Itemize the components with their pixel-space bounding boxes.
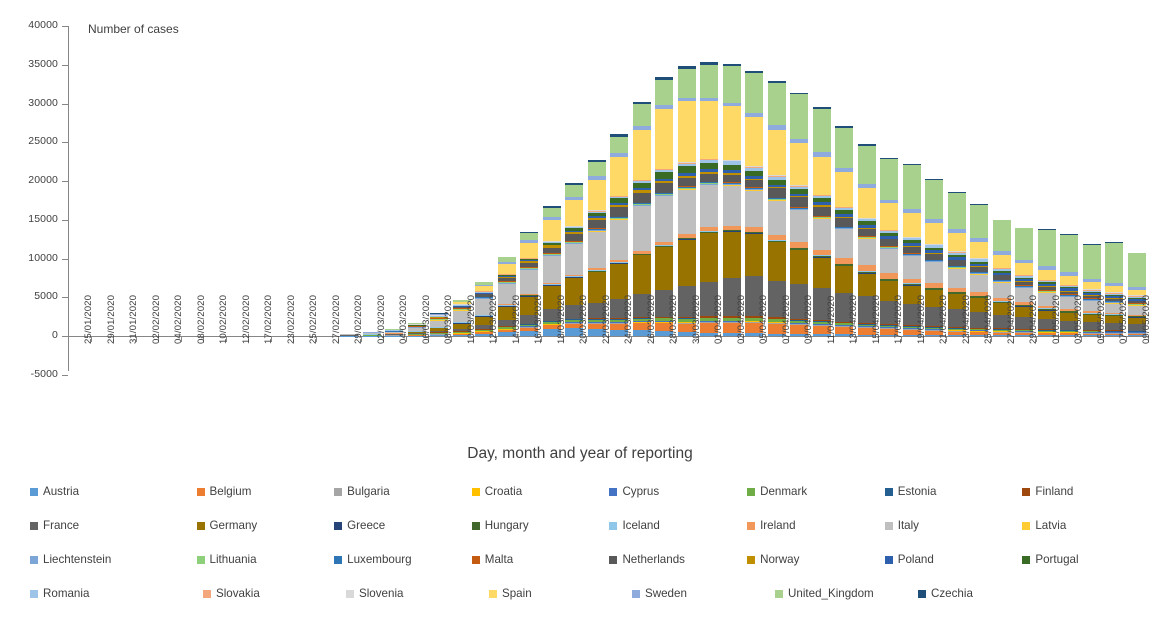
legend-swatch-icon <box>197 522 205 530</box>
bar-segment <box>948 269 966 288</box>
x-tick-label: 06/03/2020 <box>421 295 432 344</box>
x-tick-label: 09/04/2020 <box>803 295 814 344</box>
bar-segment <box>723 186 741 226</box>
legend-label: Malta <box>485 554 513 566</box>
legend-row: LiechtensteinLithuaniaLuxembourgMaltaNet… <box>0 554 1160 588</box>
legend-item-united_kingdom[interactable]: United_Kingdom <box>775 588 918 600</box>
x-tick-label: 03/04/2020 <box>736 295 747 344</box>
legend-swatch-icon <box>472 522 480 530</box>
bar-segment <box>655 109 673 169</box>
x-tick-label: 12/03/2020 <box>488 295 499 344</box>
x-tick-label: 08/03/2020 <box>443 295 454 344</box>
x-tick-label: 29/02/2020 <box>353 295 364 344</box>
x-tick-label: 22/03/2020 <box>601 295 612 344</box>
y-tick-label: 20000 <box>0 175 58 186</box>
y-tick-label: 30000 <box>0 98 58 109</box>
bar-segment <box>858 188 876 218</box>
x-tick-label: 17/04/2020 <box>893 295 904 344</box>
x-tick-label: 25/02/2020 <box>308 295 319 344</box>
x-tick-label: 08/02/2020 <box>196 295 207 344</box>
bar-segment <box>993 220 1011 251</box>
legend-swatch-icon <box>747 488 755 496</box>
legend-swatch-icon <box>775 590 783 598</box>
bar-segment <box>498 264 516 273</box>
x-tick-label: 03/05/2020 <box>1073 295 1084 344</box>
legend-label: Lithuania <box>210 554 257 566</box>
bar-segment <box>1038 230 1056 266</box>
bar-segment <box>948 193 966 229</box>
bar-segment <box>723 66 741 103</box>
legend-swatch-icon <box>334 556 342 564</box>
x-tick-label: 20/03/2020 <box>578 295 589 344</box>
legend-row: FranceGermanyGreeceHungaryIcelandIreland… <box>0 520 1160 554</box>
x-tick-label: 05/05/2020 <box>1096 295 1107 344</box>
bar-segment <box>565 234 583 241</box>
bar-segment <box>925 223 943 244</box>
y-tick-label: 40000 <box>0 20 58 31</box>
bar-segment <box>723 175 741 182</box>
legend-label: Ireland <box>760 520 795 532</box>
bar-segment <box>565 244 583 274</box>
x-tick-label: 10/03/2020 <box>466 295 477 344</box>
bar-segment <box>588 162 606 176</box>
bar-segment <box>655 196 673 242</box>
bar-segment <box>700 101 718 159</box>
x-tick-label: 27/04/2020 <box>1006 295 1017 344</box>
legend-swatch-icon <box>197 488 205 496</box>
bar-segment <box>655 247 673 289</box>
x-tick-label: 26/03/2020 <box>646 295 657 344</box>
bar-segment <box>903 213 921 237</box>
x-tick-label: 24/03/2020 <box>623 295 634 344</box>
bar-segment <box>678 190 696 235</box>
y-tick-label: -5000 <box>0 369 58 380</box>
bar-segment <box>903 165 921 209</box>
legend-label: Latvia <box>1035 520 1066 532</box>
bar-segment <box>970 242 988 258</box>
y-tick-label: 5000 <box>0 291 58 302</box>
bar-segment <box>790 210 808 242</box>
legend-label: Spain <box>502 588 532 600</box>
bar-segment <box>700 185 718 227</box>
legend-label: United_Kingdom <box>788 588 874 600</box>
legend-item-spain[interactable]: Spain <box>489 588 632 600</box>
bar-segment <box>610 264 628 299</box>
bar-segment <box>925 180 943 219</box>
bar-segment <box>678 178 696 186</box>
legend-swatch-icon <box>472 556 480 564</box>
bar-segment <box>700 174 718 182</box>
bar-segment <box>588 180 606 211</box>
legend-swatch-icon <box>1022 522 1030 530</box>
legend-swatch-icon <box>885 556 893 564</box>
y-tick-label: 25000 <box>0 136 58 147</box>
legend-item-croatia[interactable]: Croatia <box>472 486 610 498</box>
bar-segment <box>588 220 606 228</box>
x-tick-label: 21/04/2020 <box>938 295 949 344</box>
bar-segment <box>655 183 673 192</box>
x-tick-label: 25/04/2020 <box>983 295 994 344</box>
x-tick-label: 23/04/2020 <box>961 295 972 344</box>
x-tick-label: 05/04/2020 <box>758 295 769 344</box>
legend-label: Poland <box>898 554 934 566</box>
legend-label: Greece <box>347 520 385 532</box>
legend-label: Iceland <box>622 520 659 532</box>
x-tick-label: 12/02/2020 <box>241 295 252 344</box>
bar-segment <box>655 80 673 105</box>
x-tick-label: 28/03/2020 <box>668 295 679 344</box>
legend-item-slovenia[interactable]: Slovenia <box>346 588 489 600</box>
legend-item-poland[interactable]: Poland <box>885 554 1023 566</box>
bar-segment <box>858 229 876 237</box>
legend-label: Slovakia <box>216 588 260 600</box>
bar-segment <box>700 233 718 281</box>
legend-item-italy[interactable]: Italy <box>885 520 1023 532</box>
bar-segment <box>925 262 943 283</box>
legend-item-hungary[interactable]: Hungary <box>472 520 610 532</box>
x-tick-label: 09/05/2020 <box>1141 295 1152 344</box>
bar-segment <box>678 101 696 163</box>
legend-label: Finland <box>1035 486 1073 498</box>
bar-segment <box>633 104 651 126</box>
bar-segment <box>1015 228 1033 260</box>
x-tick-label: 02/03/2020 <box>376 295 387 344</box>
legend-swatch-icon <box>334 488 342 496</box>
bar-segment <box>1015 263 1033 275</box>
bar-segment <box>633 130 651 180</box>
legend-label: Belgium <box>210 486 252 498</box>
legend-swatch-icon <box>609 488 617 496</box>
bar-segment <box>520 243 538 258</box>
legend-label: Luxembourg <box>347 554 411 566</box>
bar-segment <box>1060 276 1078 285</box>
bar-segment <box>520 233 538 240</box>
legend-item-belgium[interactable]: Belgium <box>197 486 335 498</box>
legend-item-czechia[interactable]: Czechia <box>918 588 1061 600</box>
x-tick-label: 29/01/2020 <box>106 295 117 344</box>
legend-swatch-icon <box>30 488 38 496</box>
legend-label: Austria <box>43 486 79 498</box>
bar-segment <box>745 234 763 276</box>
bar-segment <box>1083 282 1101 289</box>
bar-segment <box>835 172 853 206</box>
legend-label: Czechia <box>931 588 973 600</box>
bar-segment <box>768 188 786 197</box>
legend-swatch-icon <box>489 590 497 598</box>
legend-label: Estonia <box>898 486 937 498</box>
x-axis-title: Day, month and year of reporting <box>0 445 1160 463</box>
legend-label: Liechtenstein <box>43 554 111 566</box>
x-tick-label: 30/03/2020 <box>691 295 702 344</box>
x-tick-label: 16/03/2020 <box>533 295 544 344</box>
bar-segment <box>1128 253 1146 287</box>
x-tick-label: 07/04/2020 <box>781 295 792 344</box>
legend-swatch-icon <box>609 522 617 530</box>
bar-segment <box>1105 243 1123 283</box>
legend-label: France <box>43 520 79 532</box>
bar-segment <box>610 207 628 216</box>
x-tick-label: 18/03/2020 <box>556 295 567 344</box>
legend-swatch-icon <box>30 590 38 598</box>
x-tick-label: 15/04/2020 <box>871 295 882 344</box>
x-tick-label: 19/04/2020 <box>916 295 927 344</box>
legend-label: Sweden <box>645 588 687 600</box>
legend-swatch-icon <box>334 522 342 530</box>
chart-legend: AustriaBelgiumBulgariaCroatiaCyprusDenma… <box>0 486 1160 626</box>
legend-swatch-icon <box>747 556 755 564</box>
bar-segment <box>880 249 898 273</box>
legend-row: RomaniaSlovakiaSloveniaSpainSwedenUnited… <box>0 588 1160 622</box>
bar-segment <box>610 220 628 260</box>
bar-segment <box>835 128 853 168</box>
x-tick-label: 01/04/2020 <box>713 295 724 344</box>
bar-segment <box>1083 245 1101 279</box>
legend-item-malta[interactable]: Malta <box>472 554 610 566</box>
legend-item-slovakia[interactable]: Slovakia <box>203 588 346 600</box>
bar-segment <box>520 270 538 294</box>
x-tick-label: 17/02/2020 <box>263 295 274 344</box>
x-tick-label: 01/05/2020 <box>1051 295 1062 344</box>
bar-segment <box>610 157 628 195</box>
bar-segment <box>880 159 898 200</box>
legend-swatch-icon <box>885 488 893 496</box>
bar-segment <box>813 258 831 288</box>
bar-segment <box>790 94 808 138</box>
legend-item-estonia[interactable]: Estonia <box>885 486 1023 498</box>
legend-label: Netherlands <box>622 554 685 566</box>
legend-item-lithuania[interactable]: Lithuania <box>197 554 335 566</box>
x-tick-label: 13/04/2020 <box>848 295 859 344</box>
legend-swatch-icon <box>609 556 617 564</box>
bar-segment <box>745 191 763 228</box>
legend-row: AustriaBelgiumBulgariaCroatiaCyprusDenma… <box>0 486 1160 520</box>
bar-segment <box>880 239 898 246</box>
legend-label: Romania <box>43 588 89 600</box>
bar-segment <box>768 201 786 235</box>
x-tick-label: 31/01/2020 <box>128 295 139 344</box>
legend-swatch-icon <box>30 556 38 564</box>
legend-label: Germany <box>210 520 258 532</box>
x-tick-label: 04/02/2020 <box>173 295 184 344</box>
legend-swatch-icon <box>472 488 480 496</box>
bar-segment <box>970 205 988 238</box>
x-tick-label: 07/05/2020 <box>1118 295 1129 344</box>
legend-item-germany[interactable]: Germany <box>197 520 335 532</box>
x-tick-label: 04/03/2020 <box>398 295 409 344</box>
bar-segment <box>1038 270 1056 280</box>
bar-segment <box>768 242 786 280</box>
bar-segment <box>588 232 606 269</box>
legend-label: Bulgaria <box>347 486 390 498</box>
legend-swatch-icon <box>918 590 926 598</box>
legend-item-france[interactable]: France <box>0 520 197 532</box>
bar-segment <box>813 207 831 217</box>
bar-segment <box>745 73 763 113</box>
y-tick-label: 15000 <box>0 214 58 225</box>
legend-swatch-icon <box>346 590 354 598</box>
legend-label: Slovenia <box>359 588 403 600</box>
x-tick-label: 23/02/2020 <box>286 295 297 344</box>
bar-segment <box>790 143 808 185</box>
bar-segment <box>880 203 898 229</box>
x-tick-label: 29/04/2020 <box>1028 295 1039 344</box>
bar-segment <box>723 106 741 160</box>
bar-segment <box>633 255 651 293</box>
legend-swatch-icon <box>632 590 640 598</box>
x-tick-label: 27/02/2020 <box>331 295 342 344</box>
bar-segment <box>993 255 1011 268</box>
bar-segment <box>700 65 718 98</box>
legend-swatch-icon <box>885 522 893 530</box>
bar-segment <box>678 240 696 286</box>
legend-item-denmark[interactable]: Denmark <box>747 486 885 498</box>
y-tick-label: 35000 <box>0 59 58 70</box>
x-tick-label: 02/02/2020 <box>151 295 162 344</box>
plot-bars <box>68 26 1148 336</box>
legend-label: Italy <box>898 520 919 532</box>
x-tick-label: 11/04/2020 <box>826 296 837 344</box>
bar-segment <box>813 219 831 249</box>
bar-segment <box>813 109 831 152</box>
legend-item-cyprus[interactable]: Cyprus <box>609 486 747 498</box>
bar-segment <box>543 220 561 241</box>
legend-item-austria[interactable]: Austria <box>0 486 197 498</box>
legend-label: Cyprus <box>622 486 659 498</box>
bar-segment <box>948 233 966 252</box>
bar-segment <box>970 275 988 293</box>
legend-item-sweden[interactable]: Sweden <box>632 588 775 600</box>
legend-item-luxembourg[interactable]: Luxembourg <box>334 554 472 566</box>
bar-segment <box>543 256 561 282</box>
bar-segment <box>858 239 876 265</box>
legend-swatch-icon <box>1022 556 1030 564</box>
legend-swatch-icon <box>1022 488 1030 496</box>
legend-swatch-icon <box>203 590 211 598</box>
bar-segment <box>768 130 786 176</box>
bar-segment <box>633 206 651 251</box>
bar-segment <box>768 83 786 125</box>
bar-segment <box>745 117 763 167</box>
legend-label: Norway <box>760 554 799 566</box>
bar-segment <box>565 185 583 196</box>
bar-segment <box>858 274 876 297</box>
bar-segment <box>610 137 628 154</box>
legend-label: Denmark <box>760 486 807 498</box>
bar-segment <box>543 208 561 217</box>
legend-item-romania[interactable]: Romania <box>0 588 203 600</box>
legend-item-liechtenstein[interactable]: Liechtenstein <box>0 554 197 566</box>
legend-item-iceland[interactable]: Iceland <box>609 520 747 532</box>
x-tick-label: 14/03/2020 <box>511 295 522 344</box>
legend-item-netherlands[interactable]: Netherlands <box>609 554 747 566</box>
bar-segment <box>835 218 853 226</box>
y-tick-label: 10000 <box>0 253 58 264</box>
legend-item-bulgaria[interactable]: Bulgaria <box>334 486 472 498</box>
bar-segment <box>633 193 651 203</box>
x-tick-label: 10/02/2020 <box>218 295 229 344</box>
y-tick <box>62 375 68 376</box>
bar-segment <box>903 256 921 279</box>
bar-segment <box>678 69 696 98</box>
bar-segment <box>745 180 763 187</box>
bar-segment <box>1060 235 1078 273</box>
legend-item-finland[interactable]: Finland <box>1022 486 1160 498</box>
legend-label: Croatia <box>485 486 522 498</box>
legend-label: Portugal <box>1035 554 1078 566</box>
bar-segment <box>835 229 853 257</box>
bar-segment <box>835 266 853 293</box>
bar-segment <box>565 200 583 226</box>
legend-item-norway[interactable]: Norway <box>747 554 885 566</box>
legend-item-latvia[interactable]: Latvia <box>1022 520 1160 532</box>
x-tick-label: 25/01/2020 <box>83 295 94 344</box>
x-tick <box>68 337 69 342</box>
legend-item-ireland[interactable]: Ireland <box>747 520 885 532</box>
bar-segment <box>790 250 808 284</box>
bar-segment <box>858 146 876 184</box>
legend-item-greece[interactable]: Greece <box>334 520 472 532</box>
bar-segment <box>723 232 741 278</box>
bar-segment <box>813 157 831 195</box>
y-tick-label: 0 <box>0 330 58 341</box>
chart-area: Number of cases 400003500030000250002000… <box>0 0 1160 430</box>
bar-segment <box>790 197 808 207</box>
legend-item-portugal[interactable]: Portugal <box>1022 554 1160 566</box>
legend-label: Hungary <box>485 520 529 532</box>
legend-swatch-icon <box>30 522 38 530</box>
legend-swatch-icon <box>197 556 205 564</box>
legend-swatch-icon <box>747 522 755 530</box>
